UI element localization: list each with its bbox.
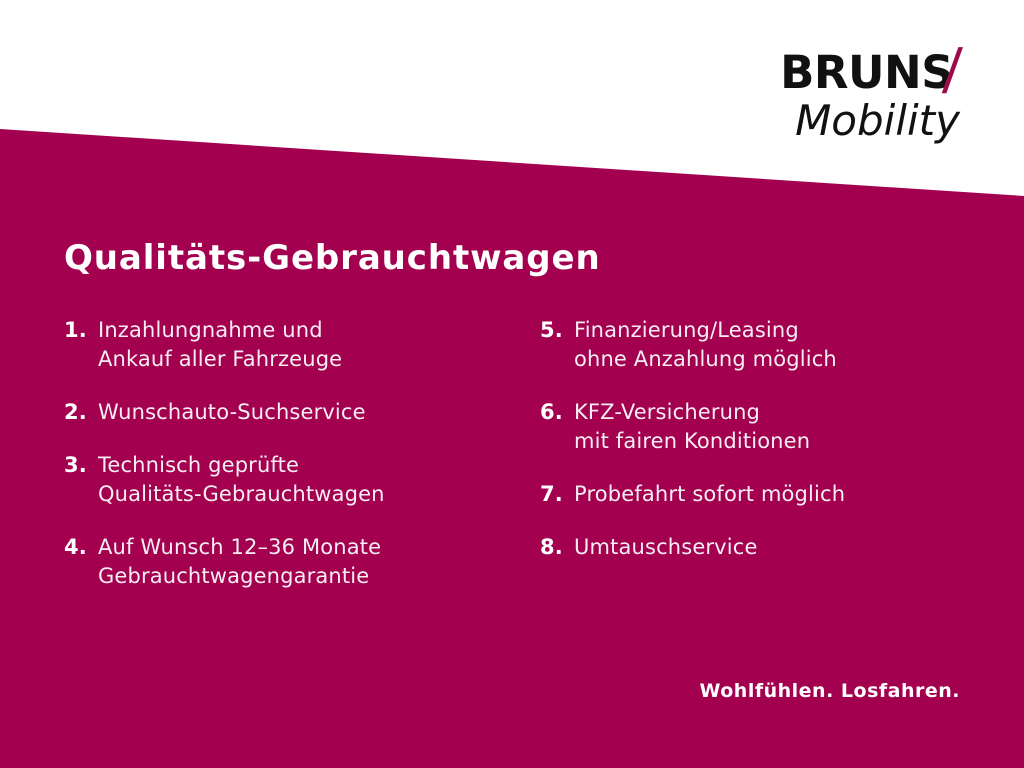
- list-item-number: 2.: [64, 398, 98, 427]
- list-item-line: Technisch geprüfte: [98, 451, 524, 480]
- list-item-number: 4.: [64, 533, 98, 562]
- list-item-line: Gebrauchtwagengarantie: [98, 562, 524, 591]
- list-item: 4.Auf Wunsch 12–36 MonateGebrauchtwageng…: [64, 533, 524, 591]
- list-item-text: Auf Wunsch 12–36 MonateGebrauchtwagengar…: [98, 533, 524, 591]
- list-item-text: Finanzierung/Leasingohne Anzahlung mögli…: [574, 316, 1000, 374]
- list-item-text: KFZ-Versicherungmit fairen Konditionen: [574, 398, 1000, 456]
- list-item-text: Umtauschservice: [574, 533, 1000, 562]
- list-item-line: Finanzierung/Leasing: [574, 316, 1000, 345]
- brand-tagline: Wohlfühlen. Losfahren.: [699, 680, 960, 702]
- list-item-line: Inzahlungnahme und: [98, 316, 524, 345]
- list-item: 3.Technisch geprüfteQualitäts-Gebrauchtw…: [64, 451, 524, 509]
- list-item-line: KFZ-Versicherung: [574, 398, 1000, 427]
- list-item-number: 8.: [540, 533, 574, 562]
- feature-column-left: 1.Inzahlungnahme undAnkauf aller Fahrzeu…: [64, 316, 524, 615]
- list-item-number: 1.: [64, 316, 98, 345]
- list-item-text: Wunschauto-Suchservice: [98, 398, 524, 427]
- page-title: Qualitäts-Gebrauchtwagen: [64, 238, 601, 278]
- slide-root: BRUNS/ Mobility Qualitäts-Gebrauchtwagen…: [0, 0, 1024, 768]
- list-item: 5.Finanzierung/Leasingohne Anzahlung mög…: [540, 316, 1000, 374]
- list-item-number: 5.: [540, 316, 574, 345]
- list-item-number: 6.: [540, 398, 574, 427]
- list-item-line: Auf Wunsch 12–36 Monate: [98, 533, 524, 562]
- list-item-number: 7.: [540, 480, 574, 509]
- feature-column-right: 5.Finanzierung/Leasingohne Anzahlung mög…: [540, 316, 1000, 586]
- list-item-text: Probefahrt sofort möglich: [574, 480, 1000, 509]
- list-item: 7.Probefahrt sofort möglich: [540, 480, 1000, 509]
- list-item-line: Ankauf aller Fahrzeuge: [98, 345, 524, 374]
- list-item-line: ohne Anzahlung möglich: [574, 345, 1000, 374]
- list-item-line: mit fairen Konditionen: [574, 427, 1000, 456]
- list-item-line: Probefahrt sofort möglich: [574, 480, 1000, 509]
- list-item: 6.KFZ-Versicherungmit fairen Konditionen: [540, 398, 1000, 456]
- slide-content: Qualitäts-Gebrauchtwagen 1.Inzahlungnahm…: [0, 0, 1024, 768]
- list-item-text: Technisch geprüfteQualitäts-Gebrauchtwag…: [98, 451, 524, 509]
- list-item: 2.Wunschauto-Suchservice: [64, 398, 524, 427]
- list-item-line: Umtauschservice: [574, 533, 1000, 562]
- list-item: 8.Umtauschservice: [540, 533, 1000, 562]
- list-item-line: Qualitäts-Gebrauchtwagen: [98, 480, 524, 509]
- list-item: 1.Inzahlungnahme undAnkauf aller Fahrzeu…: [64, 316, 524, 374]
- list-item-number: 3.: [64, 451, 98, 480]
- list-item-text: Inzahlungnahme undAnkauf aller Fahrzeuge: [98, 316, 524, 374]
- list-item-line: Wunschauto-Suchservice: [98, 398, 524, 427]
